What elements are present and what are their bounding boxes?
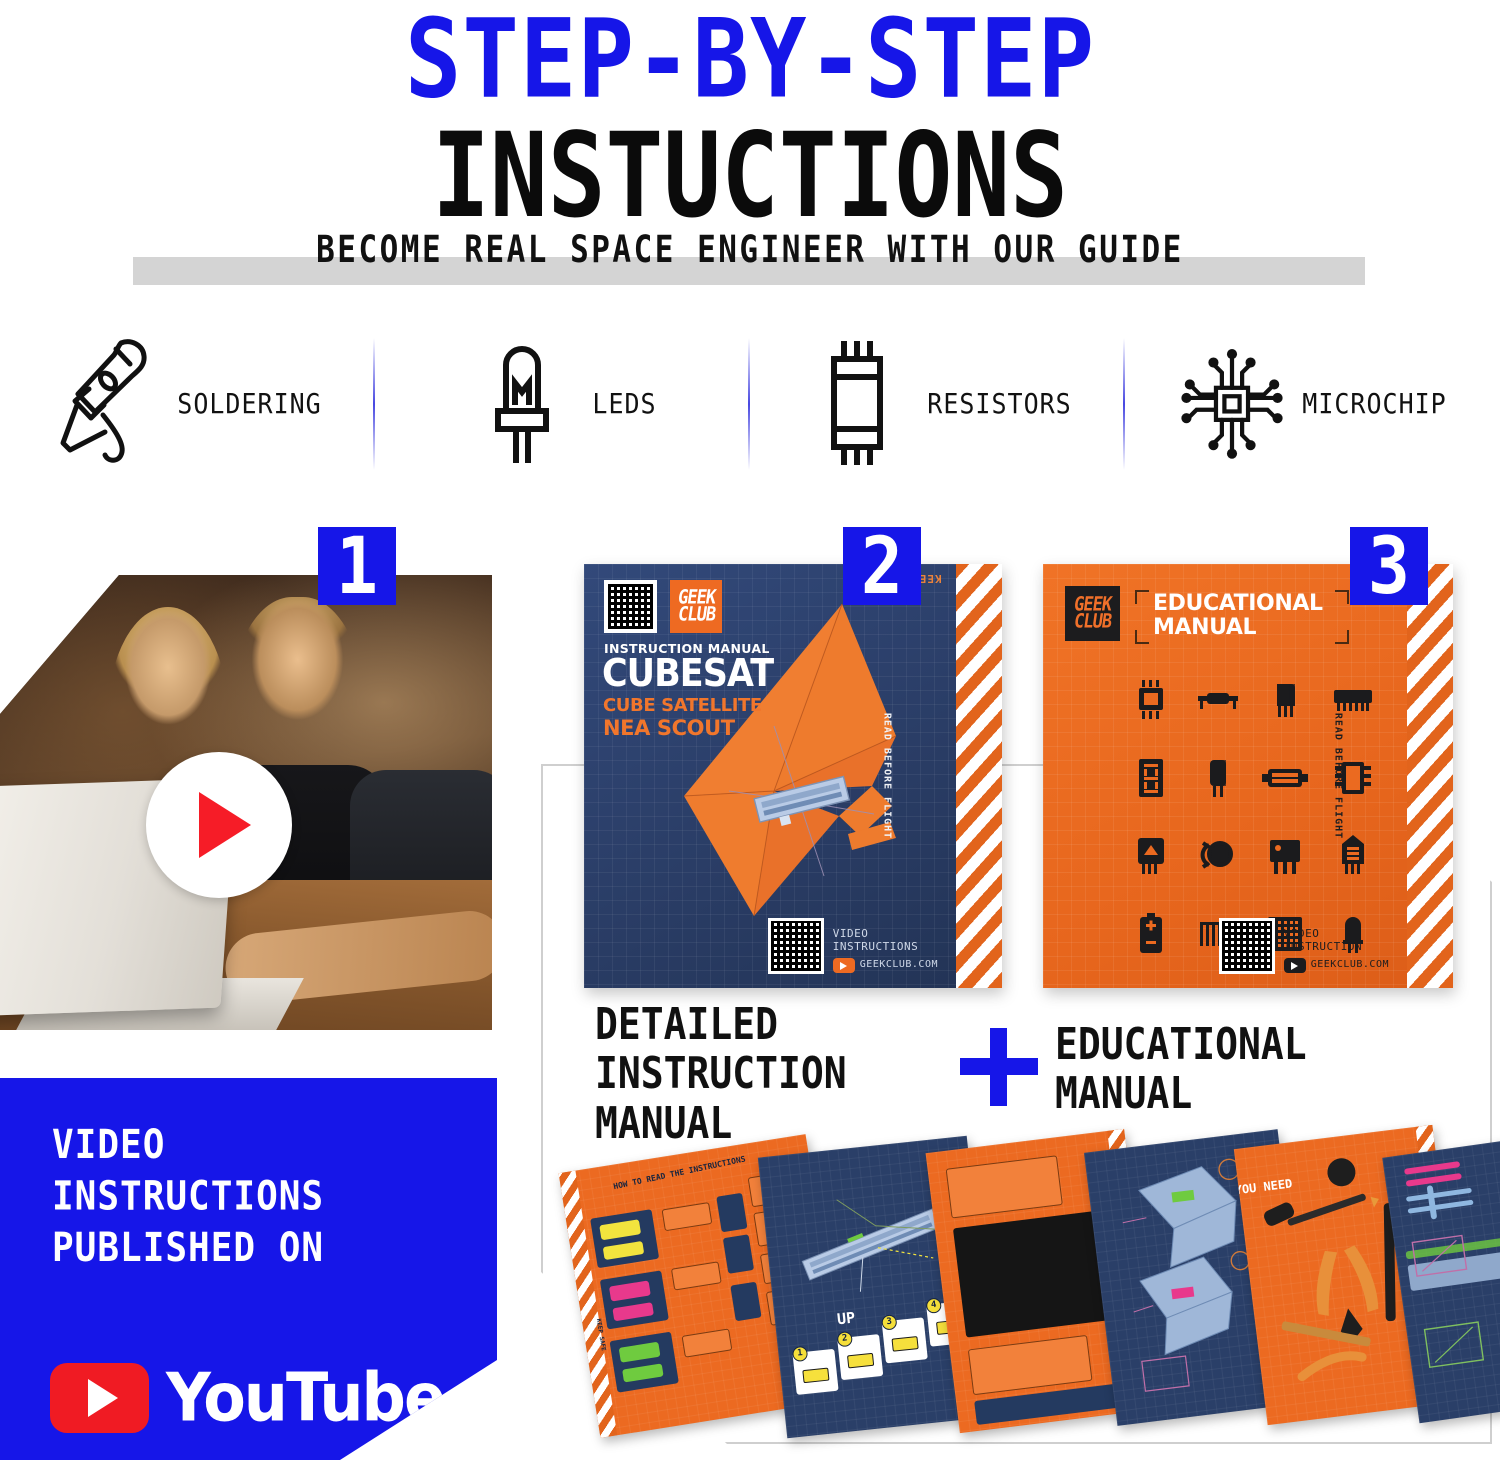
page-title-line2: INSTUCTIONS [0, 121, 1500, 232]
educational-manual-body: GEEK CLUB EDUCATIONAL MANUAL [1043, 564, 1453, 988]
step-badge-1-label: 1 [336, 522, 378, 609]
page6-bar [1406, 1188, 1472, 1202]
youtube-promo-box[interactable]: VIDEO INSTRUCTIONS PUBLISHED ON YouTube [0, 1078, 497, 1460]
page1-thumb [730, 1282, 761, 1322]
geek-club-logo: GEEK CLUB [670, 580, 722, 633]
page1-panel [590, 1209, 659, 1268]
feature-resistors: RESISTORS [750, 318, 1125, 488]
page3-note [946, 1155, 1063, 1218]
read-before-flight-label: READ BEFORE FLIGHT [881, 713, 892, 839]
step-badge-2: 2 [843, 527, 921, 605]
hazard-stripe-spine [1407, 564, 1453, 988]
page1-node [662, 1202, 713, 1231]
video-instruction-text: VIDEO INSTRUCTION GEEKCLUB.COM [1284, 927, 1389, 975]
page6-bar [1406, 1173, 1462, 1187]
microcontroller-icon [1127, 670, 1174, 730]
speaker-icon [1194, 826, 1241, 886]
video-label-line2: INSTRUCTIONS [833, 940, 938, 954]
feature-label: SOLDERING [177, 387, 321, 419]
youtube-play-icon [50, 1363, 149, 1433]
instruction-manual-qr [604, 580, 657, 633]
youtube-promo-line1: VIDEO [52, 1120, 324, 1172]
crop-mark-icon [1335, 630, 1349, 644]
page6-bar [1408, 1200, 1474, 1214]
instruction-manual-subtitle2: NEA SCOUT [603, 716, 735, 740]
feature-microchip: MICROCHIP [1125, 318, 1500, 488]
youtube-row: GEEKCLUB.COM [833, 958, 938, 973]
geek-club-logo: GEEK CLUB [1065, 586, 1120, 641]
soldering-iron-icon [53, 328, 161, 478]
page6-bar [1404, 1161, 1460, 1175]
step-badge-3-label: 3 [1368, 522, 1410, 609]
feature-soldering: SOLDERING [0, 318, 375, 488]
instruction-manual-body: GEEK CLUB INSTRUCTION MANUAL CUBESAT CUB… [584, 564, 1002, 988]
fuse-icon [1262, 748, 1309, 808]
resistor-icon [1194, 670, 1241, 730]
page3-parts-sheet [953, 1211, 1107, 1337]
educational-title-line1: EDUCATIONAL [1153, 592, 1323, 616]
domain-label: GEEKCLUB.COM [1311, 959, 1389, 972]
brand-line2: CLUB [676, 605, 716, 625]
person-son [352, 615, 492, 865]
page1-node [671, 1261, 722, 1290]
youtube-wordmark: YouTube [166, 1358, 444, 1437]
feature-icon-row: SOLDERING LEDS [0, 318, 1500, 488]
hazard-stripe-spine [956, 564, 1002, 988]
video-instruction-block[interactable]: VIDEO INSTRUCTION GEEKCLUB.COM [1219, 918, 1389, 974]
feature-label: MICROCHIP [1302, 387, 1446, 419]
video-instructions-block[interactable]: VIDEO INSTRUCTIONS GEEKCLUB.COM [768, 918, 938, 974]
youtube-promo-line2: INSTRUCTIONS [52, 1172, 324, 1224]
subtitle-wrap: BECOME REAL SPACE ENGINEER WITH OUR GUID… [0, 232, 1500, 268]
led-icon [468, 328, 576, 478]
brand-line2: CLUB [1073, 612, 1113, 632]
read-before-flight-label: READ BEFORE FLIGHT [1332, 713, 1343, 839]
youtube-promo-text: VIDEO INSTRUCTIONS PUBLISHED ON [52, 1120, 324, 1275]
youtube-row: GEEKCLUB.COM [1284, 958, 1389, 973]
page3-note [968, 1335, 1093, 1395]
microchip-icon [1178, 328, 1286, 478]
youtube-icon [1284, 958, 1306, 973]
header: STEP-BY-STEP INSTUCTIONS [0, 0, 1500, 213]
domain-label: GEEKCLUB.COM [860, 959, 938, 972]
resistor-icon [803, 328, 911, 478]
instruction-manual-title: CUBESAT [602, 652, 773, 696]
video-qr-code[interactable] [768, 918, 824, 974]
page1-thumb [716, 1193, 747, 1233]
crop-mark-icon [1335, 590, 1349, 604]
video-label-line1: VIDEO [833, 927, 938, 941]
page1-thumb [723, 1234, 754, 1274]
educational-manual-title: EDUCATIONAL MANUAL [1153, 592, 1323, 640]
page1-heading: HOW TO READ THE INSTRUCTIONS [613, 1154, 747, 1191]
page6-bar [1427, 1185, 1438, 1220]
crop-mark-icon [1135, 590, 1149, 604]
transistor-icon [1262, 670, 1309, 730]
plus-sign-icon [960, 1028, 1038, 1106]
page-subtitle: BECOME REAL SPACE ENGINEER WITH OUR GUID… [0, 228, 1500, 272]
youtube-icon [833, 958, 855, 973]
crop-mark-icon [1135, 630, 1149, 644]
electrolytic-capacitor-icon [1194, 748, 1241, 808]
youtube-promo-line3: PUBLISHED ON [52, 1223, 324, 1275]
page-title-line1: STEP-BY-STEP [0, 8, 1500, 111]
play-triangle-icon [199, 792, 251, 858]
battery-icon [1127, 904, 1174, 964]
video-label-line1: VIDEO [1284, 927, 1389, 941]
voltage-regulator-icon [1262, 826, 1309, 886]
feature-label: RESISTORS [927, 387, 1071, 419]
educational-title-line2: MANUAL [1153, 616, 1323, 640]
step-badge-2-label: 2 [861, 522, 903, 609]
seven-segment-display-icon [1127, 748, 1174, 808]
video-qr-code[interactable] [1219, 918, 1275, 974]
instruction-manual-subtitle1: CUBE SATELLITE [603, 695, 762, 716]
feature-label: LEDS [592, 387, 656, 419]
page1-node [682, 1328, 733, 1357]
step-badge-3: 3 [1350, 527, 1428, 605]
video-label-line2: INSTRUCTION [1284, 940, 1389, 954]
buzzer-icon [1127, 826, 1174, 886]
video-instructions-text: VIDEO INSTRUCTIONS GEEKCLUB.COM [833, 927, 938, 975]
feature-leds: LEDS [375, 318, 750, 488]
instruction-manual-cover[interactable]: GEEK CLUB INSTRUCTION MANUAL CUBESAT CUB… [584, 564, 1002, 988]
youtube-logo[interactable]: YouTube [50, 1361, 444, 1434]
page1-panel [610, 1332, 679, 1393]
step-badge-1: 1 [318, 527, 396, 605]
page1-panel [600, 1270, 669, 1329]
educational-manual-cover[interactable]: GEEK CLUB EDUCATIONAL MANUAL [1043, 564, 1453, 988]
page6-schematic [1406, 1204, 1500, 1403]
manual-pages-spread: HOW TO READ THE INSTRUCTIONS KEEP SAFE [560, 1130, 1500, 1460]
play-button[interactable] [146, 752, 292, 898]
infographic-page: STEP-BY-STEP INSTUCTIONS BECOME REAL SPA… [0, 0, 1500, 1468]
page2-up-label: UP [836, 1309, 856, 1329]
